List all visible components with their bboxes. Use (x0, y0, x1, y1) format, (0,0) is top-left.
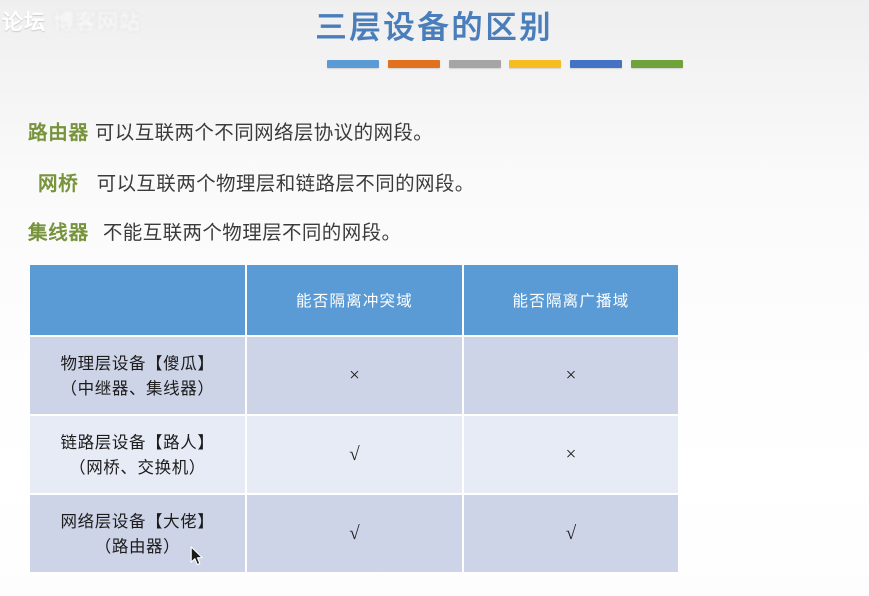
title-decoration-bars (327, 60, 683, 68)
bar-blue-light (327, 60, 379, 68)
table-row: 网络层设备【大佬】 （路由器） √ √ (30, 495, 678, 572)
table-header-row: 能否隔离冲突域 能否隔离广播域 (30, 265, 678, 335)
keyword-router: 路由器 (28, 123, 89, 144)
device-name-line1: 物理层设备【傻瓜】 (38, 351, 237, 376)
device-name-line2: （网桥、交换机） (38, 455, 237, 480)
comparison-table: 能否隔离冲突域 能否隔离广播域 物理层设备【傻瓜】 （中继器、集线器） × × … (28, 263, 680, 574)
table-cell-device-datalink: 链路层设备【路人】 （网桥、交换机） (30, 416, 245, 493)
bar-blue-dark (570, 60, 622, 68)
table-header-collision-domain: 能否隔离冲突域 (247, 265, 462, 335)
device-name-line1: 链路层设备【路人】 (38, 430, 237, 455)
presentation-slide: 论坛 博客网站 三层设备的区别 路由器可以互联两个不同网络层协议的网段。 网桥可… (0, 0, 869, 596)
bullet-line-bridge: 网桥可以互联两个物理层和链路层不同的网段。 (38, 167, 475, 196)
table-cell-collision-datalink: √ (247, 416, 462, 493)
bar-yellow (509, 60, 561, 68)
device-name-line1: 网络层设备【大佬】 (38, 509, 237, 534)
device-name-line2: （路由器） (38, 534, 237, 559)
table-row: 链路层设备【路人】 （网桥、交换机） √ × (30, 416, 678, 493)
table-header: 能否隔离冲突域 能否隔离广播域 (30, 265, 678, 335)
table-cell-broadcast-physical: × (464, 337, 678, 414)
text-bridge: 可以互联两个物理层和链路层不同的网段。 (97, 174, 475, 195)
table-header-broadcast-domain: 能否隔离广播域 (464, 265, 678, 335)
bar-orange (388, 60, 440, 68)
bar-green (631, 60, 683, 68)
table-cell-broadcast-network: √ (464, 495, 678, 572)
device-name-line2: （中继器、集线器） (38, 376, 237, 401)
table-cell-device-physical: 物理层设备【傻瓜】 （中继器、集线器） (30, 337, 245, 414)
text-router: 可以互联两个不同网络层协议的网段。 (95, 123, 433, 144)
text-hub: 不能互联两个物理层不同的网段。 (103, 223, 402, 244)
table-cell-broadcast-datalink: × (464, 416, 678, 493)
keyword-hub: 集线器 (28, 223, 89, 244)
title-block: 三层设备的区别 (0, 8, 869, 48)
table-row: 物理层设备【傻瓜】 （中继器、集线器） × × (30, 337, 678, 414)
bullet-line-router: 路由器可以互联两个不同网络层协议的网段。 (28, 116, 433, 145)
page-title: 三层设备的区别 (0, 8, 869, 48)
table-cell-collision-network: √ (247, 495, 462, 572)
table-header-device (30, 265, 245, 335)
table-cell-device-network: 网络层设备【大佬】 （路由器） (30, 495, 245, 572)
bar-gray (449, 60, 501, 68)
bullet-line-hub: 集线器不能互联两个物理层不同的网段。 (28, 216, 401, 245)
keyword-bridge: 网桥 (38, 174, 79, 195)
table-cell-collision-physical: × (247, 337, 462, 414)
table-body: 物理层设备【傻瓜】 （中继器、集线器） × × 链路层设备【路人】 （网桥、交换… (30, 337, 678, 572)
